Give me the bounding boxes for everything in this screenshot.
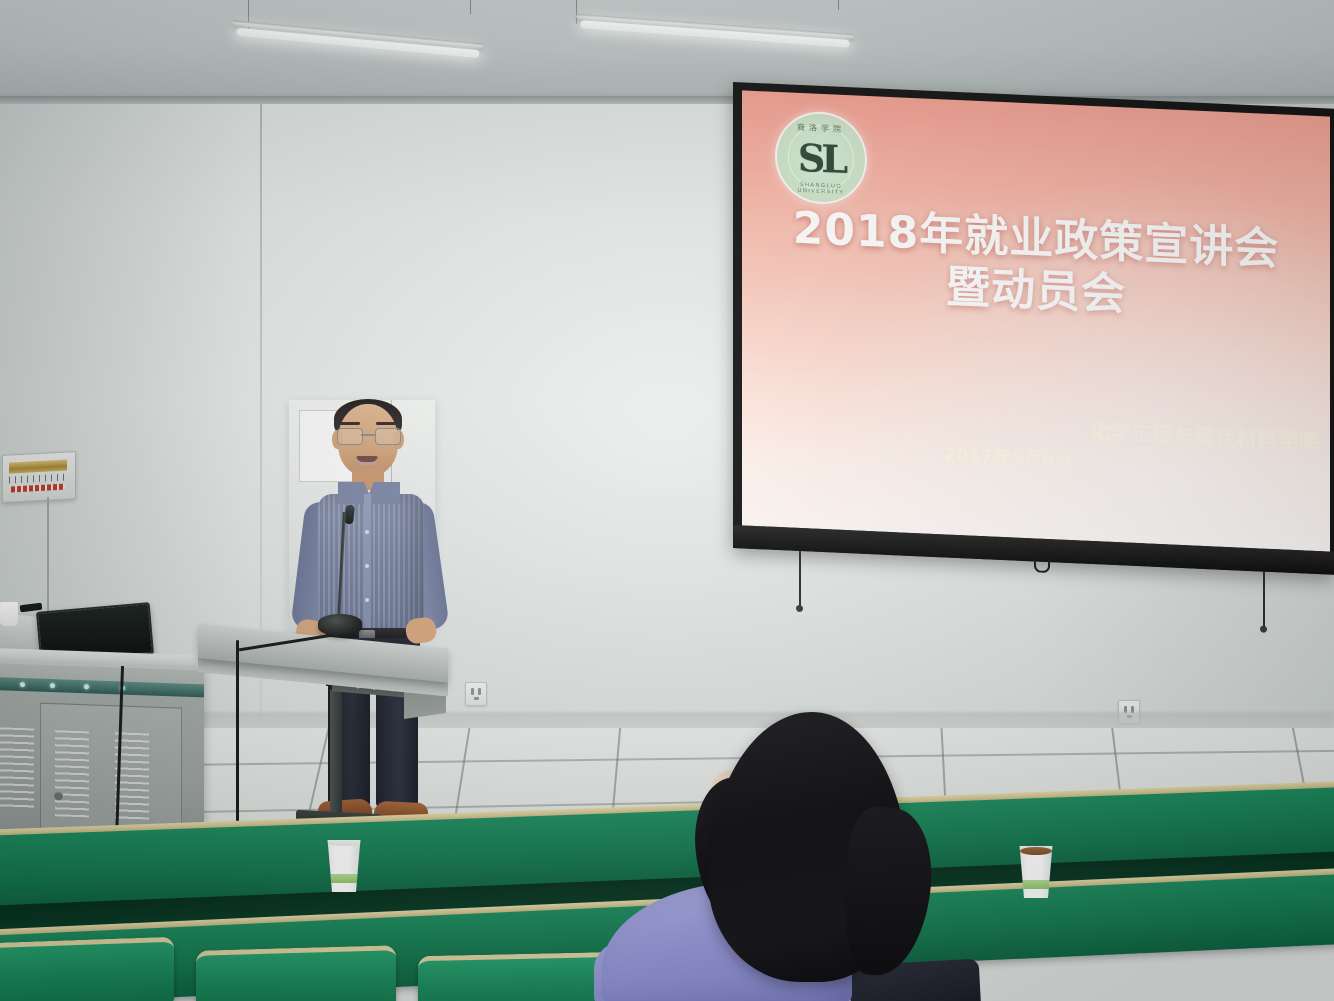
audience-person [600,712,940,1001]
screen-hook [1034,558,1050,573]
speaker-hand-right [404,616,437,645]
speaker-mouth [356,456,378,465]
panel-tick-marks [9,474,67,484]
speaker-eyebrow-right [376,422,396,425]
speaker-person [282,402,452,832]
cup-contents [1020,847,1052,855]
speaker-shirt-button [365,530,369,534]
speaker-eyebrow-left [340,422,360,425]
lecture-hall-photo: 商洛学院 SL SHANGLUO UNIVERSITY 2018年就业政策宣讲会… [0,0,1334,1001]
speaker-shirt-button [365,564,369,568]
light-wire-4 [838,0,839,10]
glasses-bridge [361,434,375,436]
speaker-glasses [337,428,399,444]
microphone-cable [236,640,239,845]
podium-leg [330,690,342,818]
seat-back[interactable] [418,952,618,1001]
wall-outlet-center[interactable] [465,682,487,706]
light-wire-3 [576,0,577,24]
cabinet-vent-far-left [0,727,34,808]
av-cabinet-trim [0,677,204,697]
glasses-lens-left [337,428,363,445]
light-wire-2 [470,0,471,14]
seat-back[interactable] [0,937,174,1001]
panel-brass-strip [9,460,67,474]
panel-conduit [47,497,49,615]
slide-footer: 化学工程与现代材料学院 2017年6月6日 [742,401,1330,486]
speaker-shirt-button [365,598,369,602]
ceiling [0,0,1334,104]
projection-screen-surface: 商洛学院 SL SHANGLUO UNIVERSITY 2018年就业政策宣讲会… [742,90,1330,551]
cabinet-vent-left [55,730,89,817]
desk-microphone[interactable] [318,614,362,636]
university-seal-logo: 商洛学院 SL SHANGLUO UNIVERSITY [775,110,867,206]
seat-back[interactable] [196,945,396,1001]
slide-organization: 化学工程与现代材料学院 [1089,419,1320,453]
cup-on-side-desk [0,602,18,626]
glasses-lens-right [375,428,401,445]
cabinet-lock-knob[interactable] [54,791,63,800]
wall-control-panel[interactable] [2,451,76,503]
slide-title: 2018年就业政策宣讲会 暨动员会 [742,200,1330,330]
screen-cord-left [799,551,801,609]
projection-screen: 商洛学院 SL SHANGLUO UNIVERSITY 2018年就业政策宣讲会… [733,82,1334,575]
panel-red-indicator [11,484,65,493]
screen-cord-right [1263,572,1265,630]
